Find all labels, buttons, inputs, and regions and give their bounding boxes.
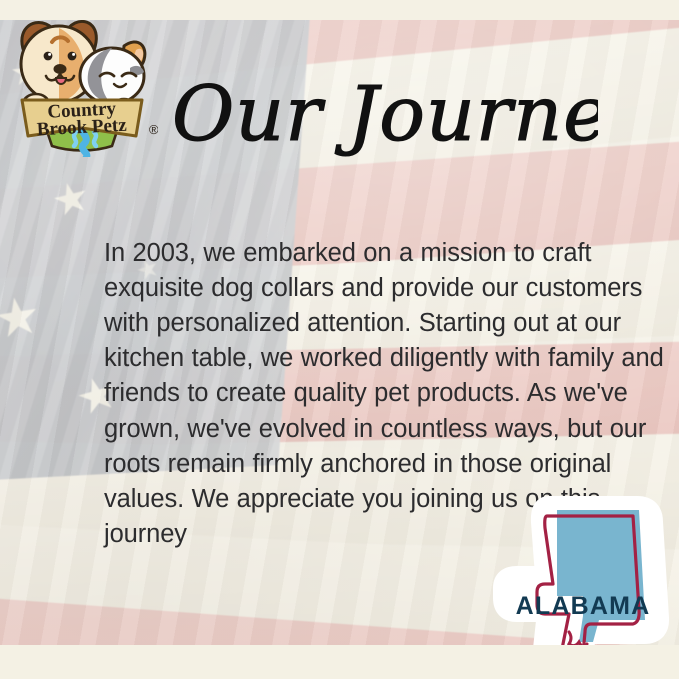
poster-canvas: ★ ★ ★ ★ ★ — [0, 0, 679, 679]
bottom-border-band — [0, 645, 679, 679]
page-title-text: Our Journey — [172, 69, 598, 158]
page-title: Our Journey — [168, 58, 598, 168]
top-border-band — [0, 0, 679, 20]
logo-banner: Country Brook Petz — [22, 98, 142, 140]
logo-trademark: ® — [149, 122, 158, 137]
country-brook-petz-logo: Country Brook Petz ® — [6, 12, 158, 157]
